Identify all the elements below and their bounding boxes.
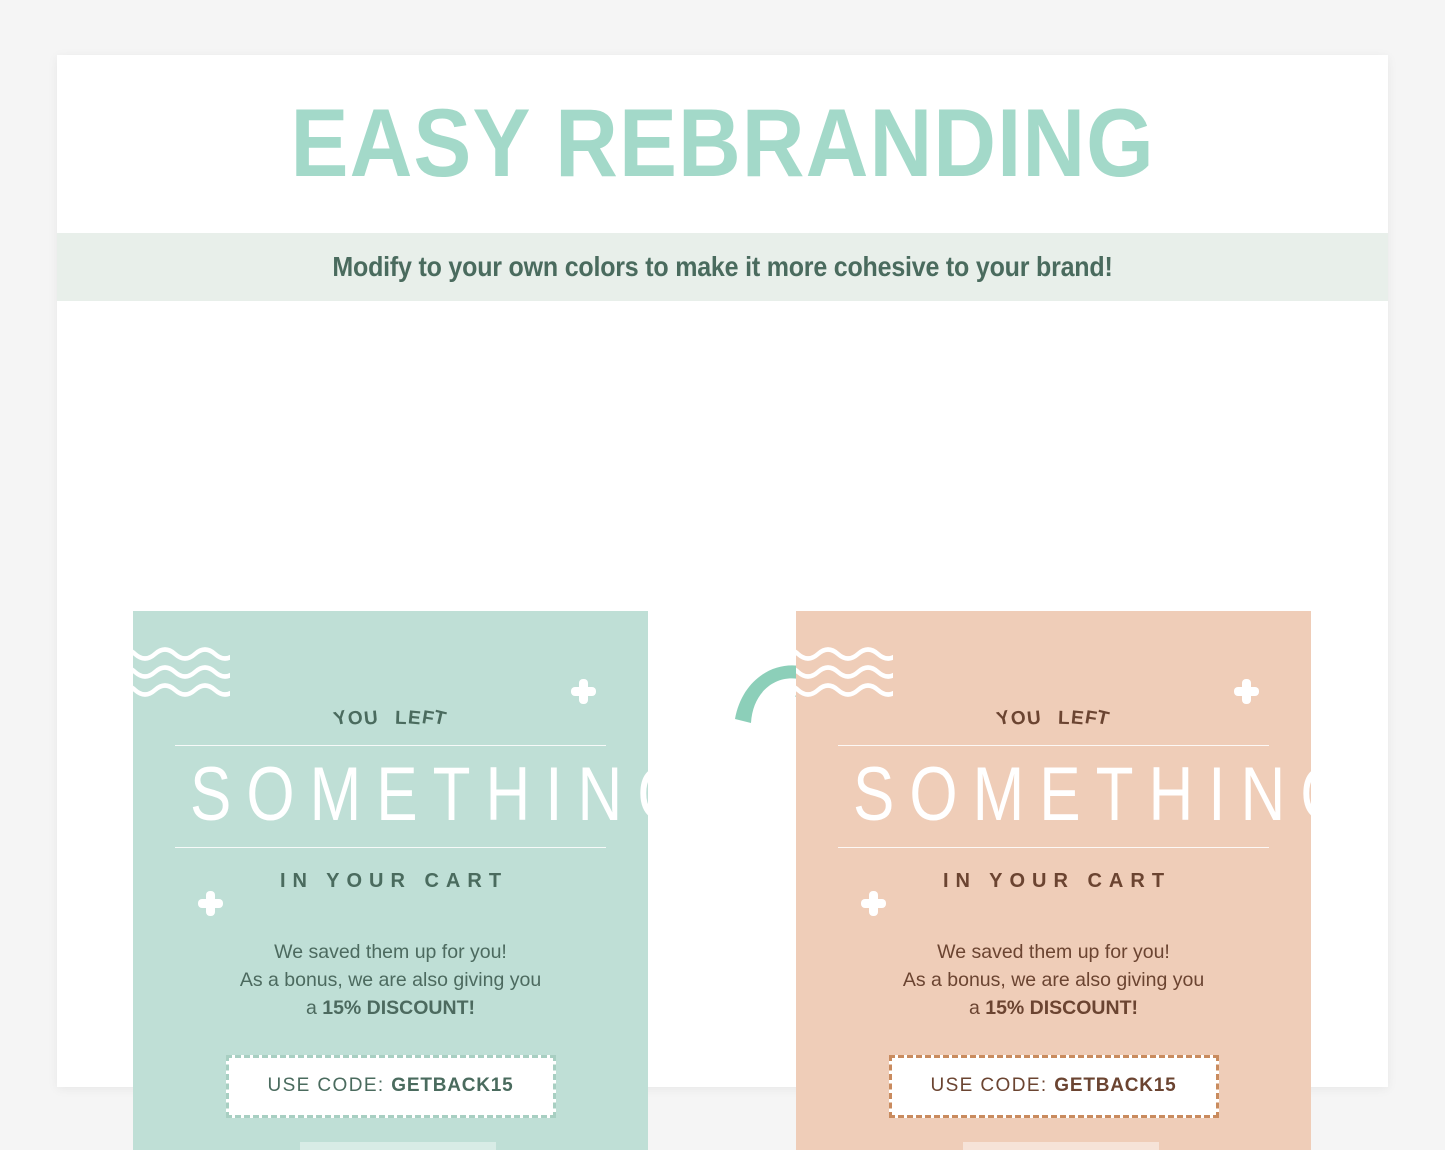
page-title: EASY REBRANDING bbox=[290, 89, 1154, 200]
body-line-2: As a bonus, we are also giving you bbox=[838, 967, 1269, 995]
eyebrow-letter: U bbox=[363, 708, 380, 728]
cards-area: YOU LEFT SOMETHING IN YOUR CART We saved… bbox=[57, 301, 1388, 1087]
card-eyebrow: YOU LEFT bbox=[175, 694, 606, 728]
coupon-text: USE CODE: GETBACK15 bbox=[930, 1075, 1176, 1097]
coupon-label: USE CODE: bbox=[930, 1075, 1047, 1096]
card-headline: SOMETHING bbox=[838, 736, 1269, 850]
card-subhead: IN YOUR CART bbox=[175, 870, 606, 893]
eyebrow-letter: O bbox=[1009, 708, 1028, 729]
body-line-3-prefix: a bbox=[969, 997, 985, 1019]
email-card-peach: YOU LEFT SOMETHING IN YOUR CART We saved… bbox=[796, 611, 1311, 1150]
email-card-mint: YOU LEFT SOMETHING IN YOUR CART We saved… bbox=[133, 611, 648, 1150]
coupon-code: GETBACK15 bbox=[391, 1075, 513, 1096]
discount-amount: 15% DISCOUNT! bbox=[322, 997, 475, 1019]
body-line-3: a 15% DISCOUNT! bbox=[175, 995, 606, 1023]
eyebrow-letter: U bbox=[1026, 708, 1043, 728]
page-subtitle: Modify to your own colors to make it mor… bbox=[332, 251, 1112, 283]
body-line-2: As a bonus, we are also giving you bbox=[175, 967, 606, 995]
card-content: YOU LEFT SOMETHING IN YOUR CART We saved… bbox=[133, 611, 648, 1150]
body-line-1: We saved them up for you! bbox=[175, 939, 606, 967]
eyebrow-letter: T bbox=[432, 708, 449, 729]
body-line-3: a 15% DISCOUNT! bbox=[838, 995, 1269, 1023]
screenshot-canvas: EASY REBRANDING Modify to your own color… bbox=[0, 0, 1445, 1150]
coupon-box[interactable]: USE CODE: GETBACK15 bbox=[226, 1055, 556, 1118]
card-body: We saved them up for you! As a bonus, we… bbox=[175, 939, 606, 1022]
body-line-1: We saved them up for you! bbox=[838, 939, 1269, 967]
card-body: We saved them up for you! As a bonus, we… bbox=[838, 939, 1269, 1022]
eyebrow-letter: T bbox=[1095, 708, 1112, 729]
coupon-label: USE CODE: bbox=[267, 1075, 384, 1096]
eyebrow-letter: O bbox=[346, 708, 365, 729]
body-line-3-prefix: a bbox=[306, 997, 322, 1019]
card-eyebrow: YOU LEFT bbox=[838, 694, 1269, 728]
card-subhead: IN YOUR CART bbox=[838, 870, 1269, 893]
eyebrow-letter bbox=[378, 709, 395, 728]
subtitle-band: Modify to your own colors to make it mor… bbox=[57, 233, 1388, 301]
coupon-code: GETBACK15 bbox=[1054, 1075, 1176, 1096]
white-page-sheet: EASY REBRANDING Modify to your own color… bbox=[57, 55, 1388, 1087]
page-header: EASY REBRANDING bbox=[57, 55, 1388, 233]
discount-amount: 15% DISCOUNT! bbox=[985, 997, 1138, 1019]
eyebrow-letter bbox=[1041, 709, 1058, 728]
coupon-box[interactable]: USE CODE: GETBACK15 bbox=[889, 1055, 1219, 1118]
card-headline: SOMETHING bbox=[175, 736, 606, 850]
coupon-text: USE CODE: GETBACK15 bbox=[267, 1075, 513, 1097]
card-content: YOU LEFT SOMETHING IN YOUR CART We saved… bbox=[796, 611, 1311, 1150]
